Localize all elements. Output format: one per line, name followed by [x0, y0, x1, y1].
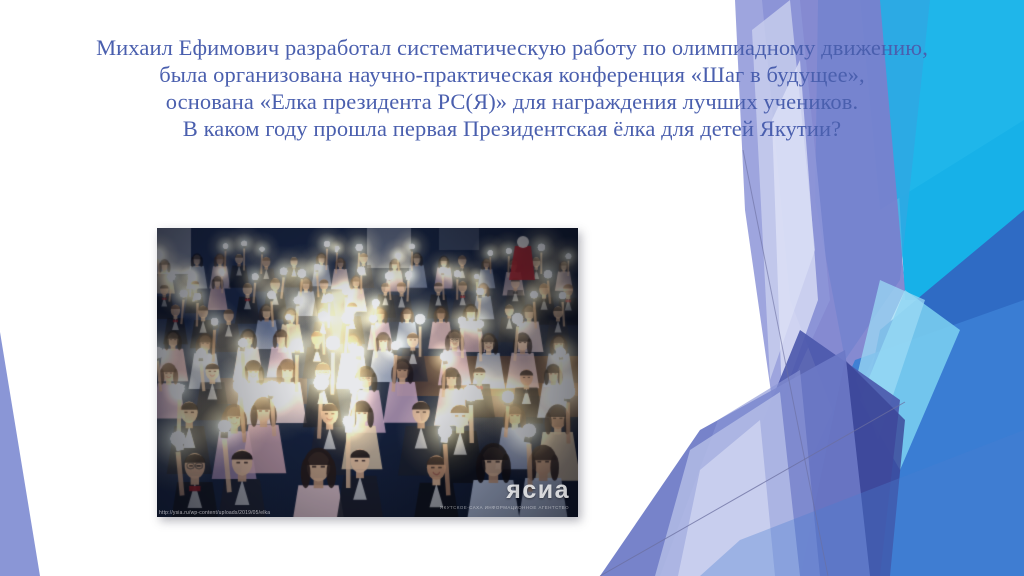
slide-canvas: Михаил Ефимович разработал систематическ…: [0, 0, 1024, 576]
facet-blue-deep-lower: [830, 210, 1024, 576]
photo-watermark-subtitle: ЯКУТСКОЕ-САХА ИНФОРМАЦИОННОЕ АГЕНТСТВО: [440, 505, 569, 510]
photo-watermark-yasia: ясиа: [506, 478, 570, 503]
hairline-diagonal-long: [600, 402, 905, 576]
facet-left-wedge: [0, 332, 40, 576]
facet-blue-mid-lower: [760, 300, 1024, 576]
facet-indigo-dark: [800, 360, 905, 576]
facet-lavender-lower: [655, 392, 800, 576]
facet-periwinkle-sweep: [600, 350, 870, 576]
facet-periwinkle-sweep-light: [660, 370, 820, 576]
facet-cyan-pale-triangle-2: [856, 280, 925, 440]
title-line-2: была организована научно-практическая ко…: [0, 61, 1024, 88]
photo-source-caption: http://ysia.ru/wp-content/uploads/2019/0…: [159, 510, 270, 516]
facet-cyan-pale-triangle: [860, 290, 960, 470]
facet-bottom-blue-strip: [700, 430, 1024, 576]
hairline-diagonal-steep: [743, 150, 828, 576]
title-line-3: основана «Елка президента РС(Я)» для наг…: [0, 88, 1024, 115]
facet-lavender-lower-pale: [678, 420, 775, 576]
title-line-1: Михаил Ефимович разработал систематическ…: [0, 34, 1024, 61]
photo-crowd-with-phone-lights: ясиа ЯКУТСКОЕ-САХА ИНФОРМАЦИОННОЕ АГЕНТС…: [157, 228, 578, 517]
title-line-4: В каком году прошла первая Президентская…: [0, 115, 1024, 142]
photo-image: [157, 228, 578, 517]
slide-title-block: Михаил Ефимович разработал систематическ…: [0, 34, 1024, 142]
facet-indigo-slab: [700, 330, 900, 576]
